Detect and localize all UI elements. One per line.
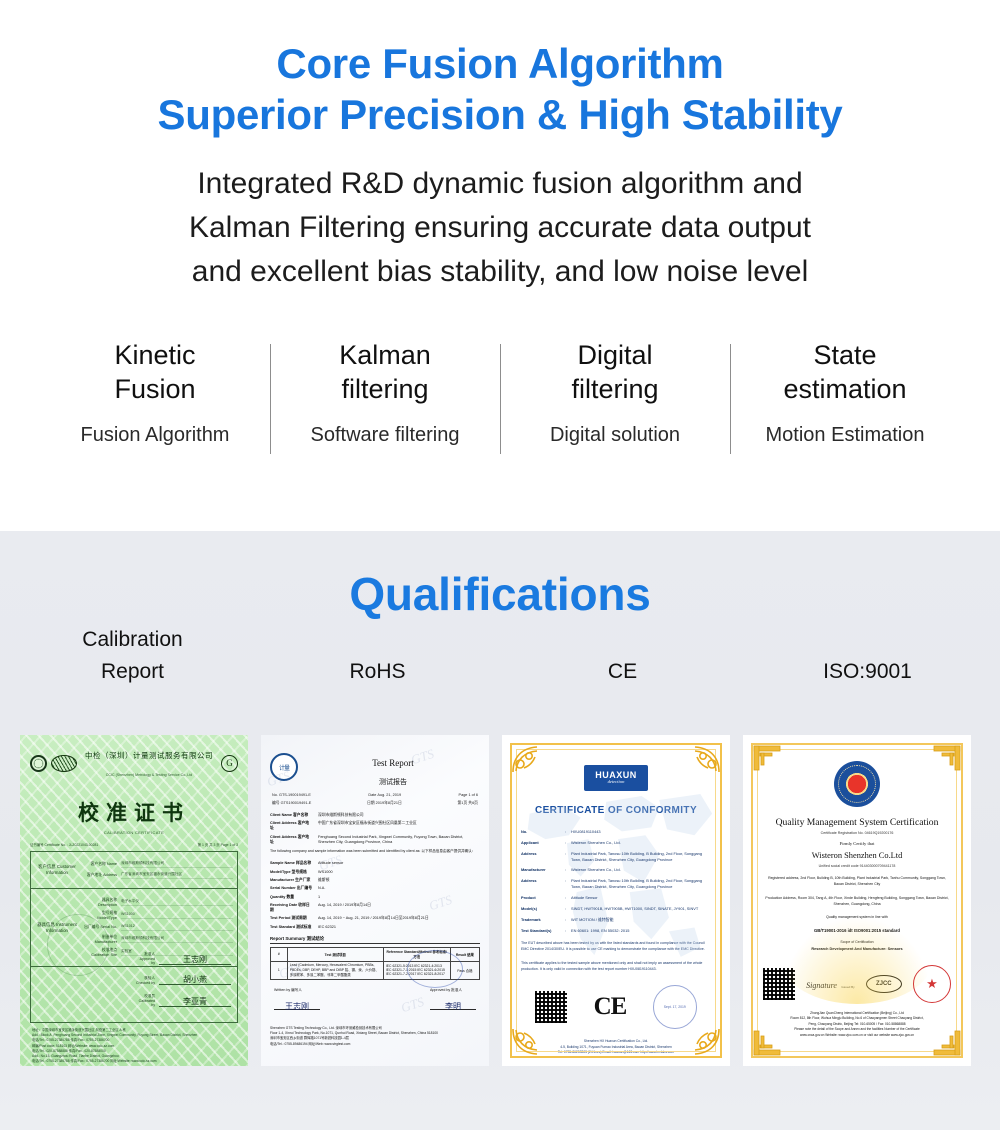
approved-by-signature: 李明 bbox=[430, 1001, 476, 1010]
iso-scope-label: Scope of Certification bbox=[753, 940, 961, 944]
report-date: Aug. 21, 2019 bbox=[377, 793, 401, 797]
field-value: WIT MOTION / 维特智能 bbox=[571, 917, 711, 923]
field-value: 深圳市维斯顿科技有限公司 bbox=[318, 813, 480, 818]
feature-title: Digital filtering bbox=[506, 338, 724, 406]
row-key: 客户名称 Name bbox=[83, 862, 117, 867]
feature-subtitle: Fusion Algorithm bbox=[46, 422, 264, 448]
feature-title-line-1: Kalman bbox=[276, 338, 494, 372]
ce-stamp-date: Sept. 17, 2019 bbox=[664, 1005, 686, 1009]
iso-credit-code: 914403000709441178 bbox=[860, 864, 896, 868]
cnca-emblem-icon bbox=[834, 761, 880, 807]
qualifications-title: Qualifications bbox=[0, 531, 1000, 621]
ornament-corner-icon bbox=[928, 744, 962, 774]
field-value: N.A. bbox=[318, 886, 480, 891]
iso-standard: GB/T19001-2016 idt ISO9001:2015 standard bbox=[753, 928, 961, 933]
row-value: 电子水平仪 bbox=[121, 899, 233, 906]
sign-key: 校准员 Calibrated by bbox=[135, 994, 155, 1007]
ce-paragraph-1: The EUT described above has been tested … bbox=[521, 941, 711, 953]
field-value: SINDT, HWT901B, HWT905B, HWT1000, SINDT,… bbox=[571, 906, 711, 912]
feature-title: Kinetic Fusion bbox=[46, 338, 264, 406]
feature-digital-filtering: Digital filtering Digital solution bbox=[500, 338, 730, 448]
report-date-cn-label: 日期 bbox=[367, 801, 375, 805]
headline-line-1: Core Fusion Algorithm bbox=[0, 38, 1000, 89]
calibration-footer: 地址：中国深圳市宝安区福永街道兴围社区 凤凰第二工业区 A 栋 Add.: Bl… bbox=[26, 1023, 242, 1065]
ornament-corner-icon bbox=[752, 744, 786, 774]
feature-title: State estimation bbox=[736, 338, 954, 406]
report-date-cn: 2019年8月21日 bbox=[376, 801, 402, 805]
ce-mark-icon: CE bbox=[594, 993, 627, 1021]
field-key: Test Standard(s) bbox=[521, 928, 565, 934]
qr-code-icon bbox=[763, 968, 795, 1000]
report-date-label: Date bbox=[368, 793, 376, 797]
field-value: WS1000 bbox=[318, 870, 480, 875]
row-value: WS1012 bbox=[121, 924, 233, 931]
rohs-title-en: Test Report bbox=[372, 758, 414, 768]
cell-index: 1 bbox=[271, 961, 288, 979]
field-value: 维斯顿 bbox=[318, 878, 480, 883]
cert-label-line-2: Report bbox=[10, 656, 255, 688]
sign-key: 批准人 Approved by bbox=[135, 952, 155, 965]
approved-by-label: Approved by 批准人 bbox=[430, 988, 462, 992]
feature-title-line-1: Kinetic bbox=[46, 338, 264, 372]
field-key: Address bbox=[521, 851, 565, 863]
iso-address-registered: Registered address, 2nd Floor, Building … bbox=[753, 876, 961, 888]
row-value: WS1000 bbox=[121, 912, 233, 919]
field-key: Product bbox=[521, 895, 565, 901]
iso-firm-label: Firmly Certify that bbox=[753, 841, 961, 846]
certificate-image-iso[interactable]: Quality Management System Certification … bbox=[743, 735, 971, 1066]
field-key: Client Address 客户地址 bbox=[270, 821, 312, 831]
certificate-image-rohs[interactable]: GTS GTS GTS GTS GTS GTS 计量 Test Report 测… bbox=[261, 735, 489, 1066]
lab-logo-icon: 计量 bbox=[270, 753, 298, 781]
zjcc-logo-icon: ZJCC bbox=[866, 975, 902, 993]
footer-line: 电话/Tel.: 0755-89486194 网址/Web: www.strgt… bbox=[270, 1042, 480, 1047]
iso-signature-caption: Issued By bbox=[841, 985, 854, 989]
report-page-cn: 第1页 共6页 bbox=[458, 801, 478, 806]
report-no-cn: GTS190019491-E bbox=[281, 801, 312, 805]
calibration-issuer-cn: 中检（深圳）计量测试服务有限公司 bbox=[85, 751, 213, 760]
col-index: # bbox=[271, 947, 288, 961]
field-key: Client Address 客户地址 bbox=[270, 835, 312, 845]
footer-line: Tel: 0755-86253305 (24 lines) Email: hua… bbox=[520, 1050, 712, 1056]
iso-reg-no-label: Certificate Registration No. bbox=[821, 831, 864, 835]
rohs-sample-fields: Sample Name 样品名称Attitude sensor Model/Ty… bbox=[270, 861, 480, 929]
ccic-logo-icon: G bbox=[221, 755, 238, 772]
ce-fields: No.:HXU0819110443 Applicant:Wisteron She… bbox=[521, 829, 711, 933]
iso-footer: ZhongJian QuanCheng International Certif… bbox=[753, 1011, 961, 1038]
row-value: 广东省深圳市宝安区福永街道兴围社区 bbox=[121, 872, 233, 879]
certificate-image-ce[interactable]: HUAXUN detection CERTIFICATE OF CONFORMI… bbox=[502, 735, 730, 1066]
feature-subtitle: Software filtering bbox=[276, 422, 494, 448]
ce-stamp-icon: Sept. 17, 2019 bbox=[653, 985, 697, 1029]
rohs-note: The following company and sample informa… bbox=[270, 849, 480, 854]
rohs-title-cn: 测试报告 bbox=[379, 779, 407, 786]
ce-title: CERTIFICATE OF CONFORMITY bbox=[512, 805, 720, 816]
feature-kalman-filtering: Kalman filtering Software filtering bbox=[270, 338, 500, 448]
footer-line: 电话/Tel.: 0755-27386788 传真/Fax.: 0755-273… bbox=[32, 1059, 157, 1064]
iso-reg-no-value: 04619Q19200176 bbox=[865, 831, 894, 835]
feature-list: Kinetic Fusion Fusion Algorithm Kalman f… bbox=[40, 338, 960, 448]
field-value: Attitude sensor bbox=[318, 861, 480, 866]
feature-subtitle: Motion Estimation bbox=[736, 422, 954, 448]
cnas-logo-icon bbox=[51, 755, 77, 772]
ornament-corner-icon bbox=[511, 744, 545, 774]
row-value: 深圳市维斯顿科技有限公司 bbox=[121, 861, 233, 868]
feature-kinetic-fusion: Kinetic Fusion Fusion Algorithm bbox=[40, 338, 270, 448]
footer-line: www.cnca.gov.cn Website: www.zjcc.com.cn… bbox=[761, 1033, 953, 1038]
certificate-image-calibration[interactable]: 中检（深圳）计量测试服务有限公司 CCIC (Shenzhen) Metrolo… bbox=[20, 735, 248, 1066]
report-no: GTS-190019491-E bbox=[279, 793, 311, 797]
rohs-id-row: No. GTS-190019491-E Date Aug. 21, 2019 P… bbox=[270, 793, 480, 797]
ce-marks-row: CE Sept. 17, 2019 bbox=[512, 985, 720, 1029]
rohs-stamp-icon bbox=[407, 950, 463, 988]
field-value: EN 60601: 1998, EN 55032: 2015 bbox=[571, 928, 711, 934]
field-value: Aug. 14, 2019 / 2019年8月14日 bbox=[318, 903, 480, 913]
field-value: Fenghuang Second Industrial Park, Xingwe… bbox=[318, 835, 480, 845]
feature-title-line-2: filtering bbox=[276, 372, 494, 406]
certificate-gallery: 中检（深圳）计量测试服务有限公司 CCIC (Shenzhen) Metrolo… bbox=[20, 735, 980, 1066]
field-value: Wisteron Shenzhen Co., Ltd. bbox=[571, 867, 711, 873]
ornament-corner-icon bbox=[687, 744, 721, 774]
calibration-meta: 证书编号 Certificate No. : JLZ0221043-00281 … bbox=[26, 835, 242, 847]
field-value: 中国广东省深圳市宝安区福永街道兴围社区凤凰第二工业区 bbox=[318, 821, 480, 831]
field-key: Serial Number 出厂编号 bbox=[270, 886, 312, 891]
headline-line-2: Superior Precision & High Stability bbox=[0, 89, 1000, 140]
calibration-header: 中检（深圳）计量测试服务有限公司 CCIC (Shenzhen) Metrolo… bbox=[26, 741, 242, 782]
iso-company: Wisteron Shenzhen Co.Ltd bbox=[753, 851, 961, 860]
field-key: Receiving Date 收样日期 bbox=[270, 903, 312, 913]
feature-title-line-2: filtering bbox=[506, 372, 724, 406]
cert-label-ce: CE bbox=[500, 656, 745, 688]
field-key: Quantity 数量 bbox=[270, 895, 312, 900]
report-no-label: No. bbox=[272, 793, 278, 797]
report-no-cn-label: 编号 bbox=[272, 801, 280, 805]
page-title: Core Fusion Algorithm Superior Precision… bbox=[0, 0, 1000, 140]
qualifications-section: Qualifications Calibration Report RoHS C… bbox=[0, 531, 1000, 1130]
report-page: 1 of 6 bbox=[468, 793, 478, 797]
huaxun-logo-line-2: detection bbox=[608, 780, 625, 785]
feature-subtitle: Digital solution bbox=[506, 422, 724, 448]
field-key: Trademark bbox=[521, 917, 565, 923]
ce-paragraph-2: This certificate applies to the tested s… bbox=[521, 961, 711, 973]
calibration-details-box: 客户信息 Customer Information 客户名称 Name深圳市维斯… bbox=[30, 851, 238, 1023]
cert-label-calibration: Calibration Report bbox=[10, 624, 255, 688]
calibration-signatures: 批准人 Approved by王志刚 核验人 Checked by胡小燕 校准员… bbox=[135, 952, 231, 1016]
field-key: Test Standard 测试标准 bbox=[270, 925, 312, 930]
iso-credit: Unified social credit code 9144030007094… bbox=[753, 864, 961, 868]
row-key: 器具名称 Description bbox=[83, 898, 117, 907]
iso-marks-row: Signature Issued By ZJCC ★ bbox=[753, 965, 961, 1003]
field-key: Client Name 客户名称 bbox=[270, 813, 312, 818]
iso-reg-no: Certificate Registration No. 04619Q19200… bbox=[753, 831, 961, 835]
row-value: 深圳市维斯顿科技有限公司 bbox=[121, 936, 233, 943]
iso-standard-note: Quality management system in line with bbox=[753, 915, 961, 919]
field-value: HXU0819110443 bbox=[571, 829, 711, 835]
field-key: Sample Name 样品名称 bbox=[270, 861, 312, 866]
iso-title: Quality Management System Certification bbox=[753, 817, 961, 828]
hero-section: Core Fusion Algorithm Superior Precision… bbox=[0, 0, 1000, 531]
sign-value: 胡小燕 bbox=[159, 974, 231, 985]
cert-label-iso: ISO:9001 bbox=[745, 656, 990, 688]
huaxun-logo: HUAXUN detection bbox=[584, 765, 648, 791]
calibration-title-cn: 校准证书 bbox=[26, 797, 242, 827]
field-value: Attitude Sensor bbox=[571, 895, 711, 901]
feature-title: Kalman filtering bbox=[276, 338, 494, 406]
red-seal-icon: ★ bbox=[913, 965, 951, 1003]
cert-label-line-1: Calibration bbox=[10, 624, 255, 656]
subtitle-line-1: Integrated R&D dynamic fusion algorithm … bbox=[0, 162, 1000, 206]
cert-label-rohs: RoHS bbox=[255, 656, 500, 688]
subtitle-line-2: Kalman Filtering ensuring accurate data … bbox=[0, 206, 1000, 250]
rohs-client-fields: Client Name 客户名称深圳市维斯顿科技有限公司 Client Addr… bbox=[270, 813, 480, 845]
report-page-label: Page bbox=[459, 793, 468, 797]
feature-title-line-1: State bbox=[736, 338, 954, 372]
field-value: Wisteron Shenzhen Co., Ltd. bbox=[571, 840, 711, 846]
written-by-signature: 王志刚 bbox=[274, 1001, 320, 1010]
marketing-page: Core Fusion Algorithm Superior Precision… bbox=[0, 0, 1000, 1130]
iso-credit-label: Unified social credit code bbox=[819, 864, 859, 868]
rohs-summary-title: Report Summary 测试结论 bbox=[270, 936, 480, 944]
hero-subtitle: Integrated R&D dynamic fusion algorithm … bbox=[0, 140, 1000, 294]
field-key: Manufacturer 生产厂家 bbox=[270, 878, 312, 883]
written-by-label: Written by 编写人 bbox=[274, 988, 302, 992]
feature-title-line-2: estimation bbox=[736, 372, 954, 406]
field-value: 1 bbox=[318, 895, 480, 900]
subtitle-line-3: and excellent bias stability, and low no… bbox=[0, 250, 1000, 294]
feature-state-estimation: State estimation Motion Estimation bbox=[730, 338, 960, 448]
sign-key: 核验人 Checked by bbox=[135, 976, 155, 985]
sign-value: 王志刚 bbox=[159, 954, 231, 965]
field-key: Address bbox=[521, 878, 565, 890]
calibration-section-label-customer: 客户信息 Customer Information bbox=[31, 857, 83, 883]
rohs-header: 计量 Test Report 测试报告 bbox=[270, 753, 480, 789]
field-key: Model(s) bbox=[521, 906, 565, 912]
feature-title-line-1: Digital bbox=[506, 338, 724, 372]
calibration-page-no: 第 1 页 共 3 页 Page 1 of 3 bbox=[198, 842, 238, 847]
iso-scope-value: Research Development And Manufacture: Se… bbox=[753, 947, 961, 951]
field-value: Aug. 14, 2019 ~ Aug. 21, 2019 / 2019年8月1… bbox=[318, 916, 480, 921]
field-key: Applicant bbox=[521, 840, 565, 846]
feature-title-line-2: Fusion bbox=[46, 372, 264, 406]
ce-footer: Shenzhen HX Huaxun Certification Co., Lt… bbox=[512, 1039, 720, 1056]
col-test: Test 测试项目 bbox=[287, 947, 383, 961]
calibration-cert-no: 证书编号 Certificate No. : JLZ0221043-00281 bbox=[30, 842, 98, 847]
accreditation-seal-icon bbox=[30, 755, 47, 772]
iso-signature-ink: Signature bbox=[806, 981, 837, 990]
rohs-signature-block: Written by 编写人 王志刚 Approved by 批准人 李明 bbox=[270, 988, 480, 1010]
certificate-labels: Calibration Report RoHS CE ISO:9001 bbox=[10, 656, 990, 688]
field-key: Manufacturer bbox=[521, 867, 565, 873]
iso-signature: Signature Issued By bbox=[806, 975, 854, 993]
rohs-footer: Shenzhen GTS Testing Technology Co., Ltd… bbox=[270, 1026, 480, 1047]
cell-test: Lead (Cadmium, Mercury, Hexavalent Chrom… bbox=[287, 961, 383, 979]
field-value: Plant Industrial Park, Tanosu 10th Build… bbox=[571, 851, 711, 863]
row-key: 客户地址 Address bbox=[83, 873, 117, 878]
field-value: IEC 62321 bbox=[318, 925, 480, 930]
sign-value: 李亚青 bbox=[159, 996, 231, 1007]
field-key: No. bbox=[521, 829, 565, 835]
calibration-issuer-en: CCIC (Shenzhen) Metrology & Testing Serv… bbox=[106, 773, 192, 777]
field-value: Plant Industrial Park, Tanosu 10th Build… bbox=[571, 878, 711, 890]
calibration-stamp-icon bbox=[47, 914, 109, 976]
rohs-id-row-cn: 编号 GTS190019491-E 日期 2019年8月21日 第1页 共6页 bbox=[270, 801, 480, 806]
field-key: Test Period 测试周期 bbox=[270, 916, 312, 921]
iso-address-production: Production Address, Room 304, Tang A, 4t… bbox=[753, 896, 961, 908]
qr-code-icon bbox=[535, 991, 567, 1023]
field-key: Model/Type 型号规格 bbox=[270, 870, 312, 875]
